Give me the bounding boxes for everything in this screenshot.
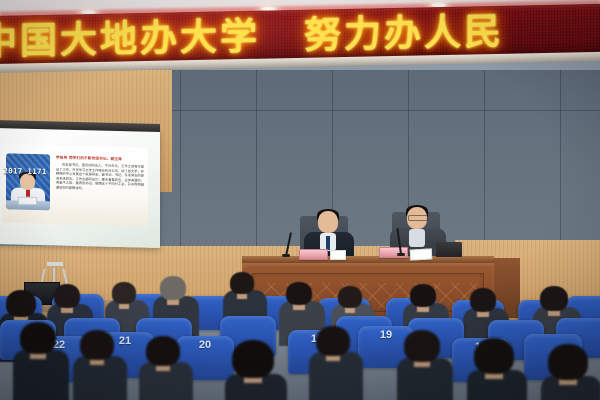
audience-head (404, 330, 440, 362)
audience-head (230, 272, 254, 294)
conference-hall-photo: 中国大地办大学努力办人民 2017 1171 学指导 同学们的不断党组书记、副主… (0, 0, 600, 400)
audience-member (548, 344, 600, 400)
banner-text-left: 中国大地办大学 (0, 15, 260, 64)
audience-head (338, 286, 362, 308)
audience-head (410, 284, 436, 307)
audience-member (474, 338, 540, 400)
paper-left (330, 250, 346, 260)
microphone-right-base (397, 253, 405, 256)
slide-photo (6, 153, 50, 210)
audience-head (470, 288, 496, 312)
speaker-right-shirt (409, 229, 425, 247)
audience-head (548, 344, 588, 380)
slide-date-overlay: 2017 1171 (3, 166, 47, 176)
slide-body-text: 在支部书记、团员的同志人、不分年代，工作之前各方面这个工作，开学学习大学工作经验… (56, 163, 144, 221)
audience-head (54, 284, 80, 308)
audience-head (112, 282, 136, 304)
audience-head (540, 286, 568, 311)
audience-head (286, 282, 312, 305)
paper-right (410, 248, 433, 260)
slide-title: 学指导 同学们的不断党组书记、副主席 (56, 156, 144, 163)
audience-head (474, 338, 514, 374)
laptop (436, 242, 462, 257)
audience-head (232, 340, 274, 378)
nameplate-left (299, 249, 328, 260)
audience-member (404, 330, 466, 400)
speaker-left-tie (326, 236, 330, 250)
audience-head (146, 336, 180, 366)
speaker-right-glasses (408, 215, 428, 221)
audience-head (20, 322, 56, 354)
speaker-left-head (318, 211, 338, 233)
audience-member (80, 330, 140, 400)
audience-head (160, 276, 186, 300)
audience-head (6, 290, 36, 317)
audience-member (146, 336, 206, 400)
audience-member (316, 326, 376, 396)
projection-screen: 2017 1171 学指导 同学们的不断党组书记、副主席 在支部书记、团员的同志… (0, 126, 160, 248)
audience-head (80, 330, 114, 360)
audience-member (232, 340, 300, 400)
microphone-left-base (282, 254, 290, 257)
presentation-slide: 2017 1171 学指导 同学们的不断党组书记、副主席 在支部书记、团员的同志… (2, 144, 148, 226)
banner-text-right: 努力办人民 (304, 10, 504, 57)
audience-head (316, 326, 350, 356)
